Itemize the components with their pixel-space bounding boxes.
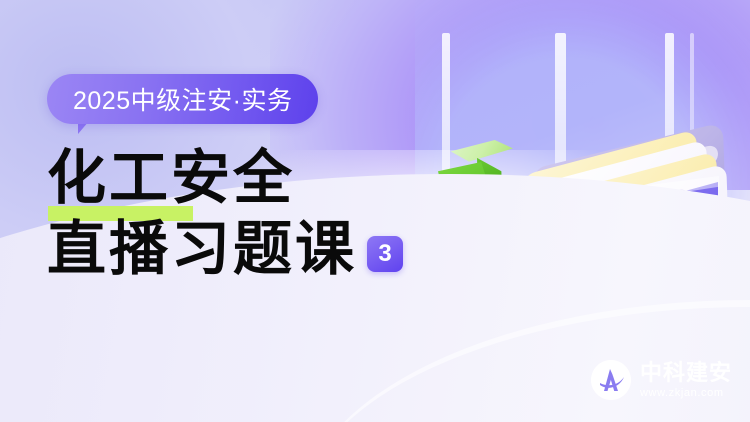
brand-logo: 中科建安 www.zkjan.com	[591, 360, 732, 400]
zkjan-logo-mark	[591, 360, 631, 400]
brand-website: www.zkjan.com	[640, 387, 732, 399]
brand-text: 中科建安 www.zkjan.com	[640, 361, 732, 399]
episode-number-badge: 3	[367, 236, 403, 272]
brand-name: 中科建安	[640, 361, 732, 385]
title-line-1-row: 化工安全	[47, 148, 403, 207]
course-category-badge: 2025中级注安·实务	[47, 74, 318, 124]
title-line-1: 化工安全	[47, 148, 295, 207]
course-category-label: 2025中级注安·实务	[73, 81, 292, 117]
title-block: 化工安全 直播习题课 3	[47, 148, 403, 290]
course-banner: 2025中级注安·实务 化工安全 直播习题课 3 中科建安 www.zkjan.…	[0, 0, 750, 422]
title-line-2-row: 直播习题课 3	[47, 219, 403, 278]
title-line-2: 直播习题课	[47, 219, 357, 278]
